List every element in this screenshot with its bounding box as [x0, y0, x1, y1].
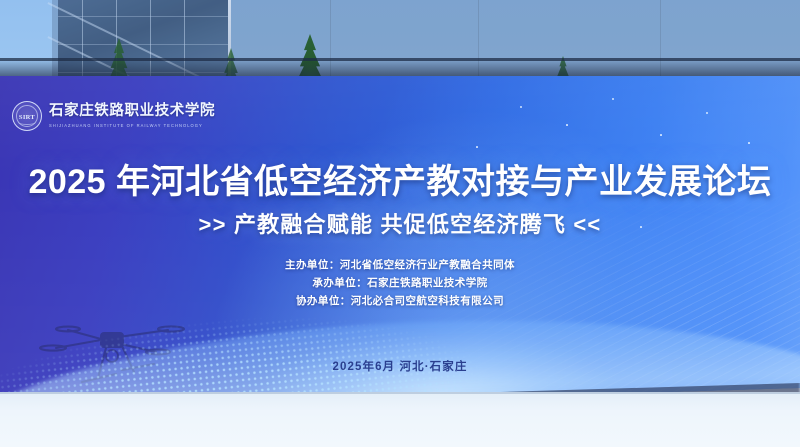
- institution-name-en: SHIJIAZHUANG INSTITUTE OF RAILWAY TECHNO…: [49, 123, 215, 128]
- organizer-coorganizer: 协办单位：河北必合司空航空科技有限公司: [0, 292, 800, 310]
- event-date-location: 2025年6月 河北·石家庄: [0, 358, 800, 374]
- organizer-host: 主办单位：河北省低空经济行业产教融合共同体: [0, 256, 800, 274]
- floor-seam: [0, 392, 800, 394]
- institution-logo: SIRT 石家庄铁路职业技术学院 SHIJIAZHUANG INSTITUTE …: [12, 101, 215, 131]
- screenshot-stage: SIRT 石家庄铁路职业技术学院 SHIJIAZHUANG INSTITUTE …: [0, 0, 800, 447]
- institution-emblem-icon: SIRT: [12, 101, 42, 131]
- forum-subtitle: >> 产教融合赋能 共促低空经济腾飞 <<: [0, 207, 800, 239]
- institution-name-cn: 石家庄铁路职业技术学院: [49, 104, 215, 120]
- organizer-list: 主办单位：河北省低空经济行业产教融合共同体 承办单位：石家庄铁路职业技术学院 协…: [0, 256, 800, 310]
- organizer-undertaker: 承办单位：石家庄铁路职业技术学院: [0, 274, 800, 292]
- floor: [0, 392, 800, 447]
- forum-title: 2025 年河北省低空经济产教对接与产业发展论坛: [0, 154, 800, 203]
- institution-name-block: 石家庄铁路职业技术学院 SHIJIAZHUANG INSTITUTE OF RA…: [49, 104, 215, 127]
